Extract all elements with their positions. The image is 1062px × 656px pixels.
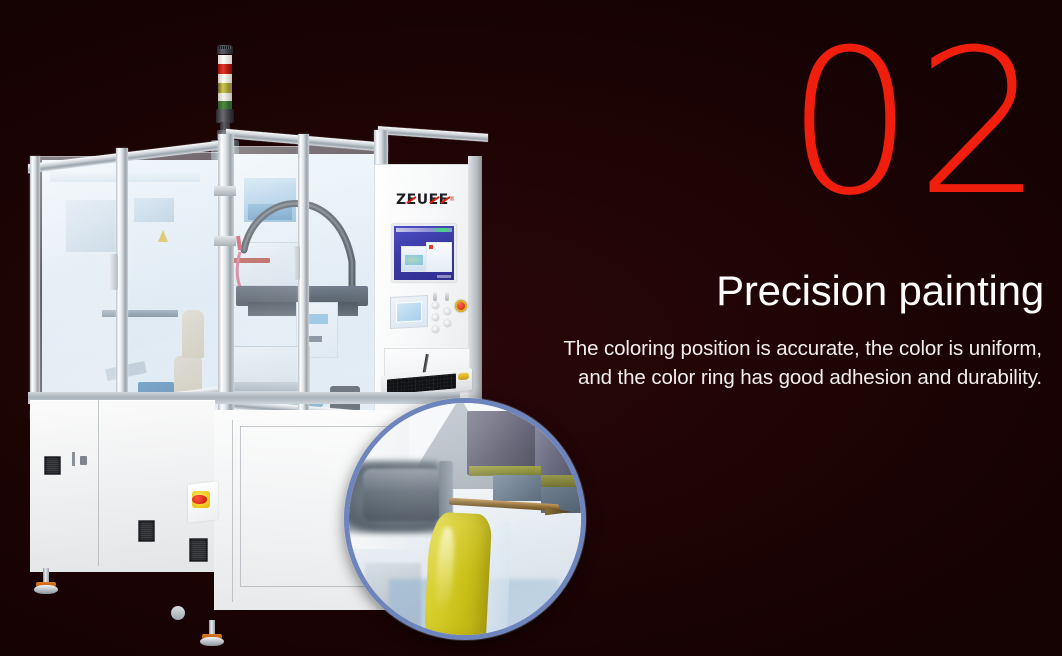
vent-grille-3: [189, 538, 208, 562]
foot-pad: [34, 585, 58, 594]
hmi-titlebar: [396, 228, 452, 232]
slide-description: The coloring position is accurate, the c…: [0, 334, 1042, 392]
estop-mushroom: [192, 495, 207, 504]
panel-seam-2: [232, 420, 233, 602]
foot-stem: [209, 620, 215, 635]
lock-handle[interactable]: [72, 452, 75, 466]
push-button-3[interactable]: [432, 326, 439, 333]
foot-pad: [200, 637, 224, 646]
lock-keyhole[interactable]: [80, 456, 87, 465]
push-button-2[interactable]: [432, 314, 439, 321]
foot-stem: [43, 568, 49, 583]
vent-grille-1: [44, 456, 61, 475]
description-line-1: The coloring position is accurate, the c…: [0, 334, 1042, 363]
push-button-5[interactable]: [444, 320, 451, 327]
leveling-foot-rear: [171, 606, 185, 620]
hinge-block-2: [214, 236, 236, 246]
panel-seam-1: [98, 400, 99, 566]
vent-grille-2: [138, 520, 155, 542]
emergency-stop-button[interactable]: [191, 490, 211, 509]
detail-inset-circle: [344, 398, 586, 640]
slide-number: 02: [0, 24, 1045, 224]
panel-seam-4: [240, 426, 241, 586]
slide-title: Precision painting: [0, 268, 1044, 314]
inset-glass-sheen: [349, 403, 581, 635]
description-line-2: and the color ring has good adhesion and…: [0, 363, 1042, 392]
slide-canvas: ZEUEE ®: [0, 0, 1062, 656]
